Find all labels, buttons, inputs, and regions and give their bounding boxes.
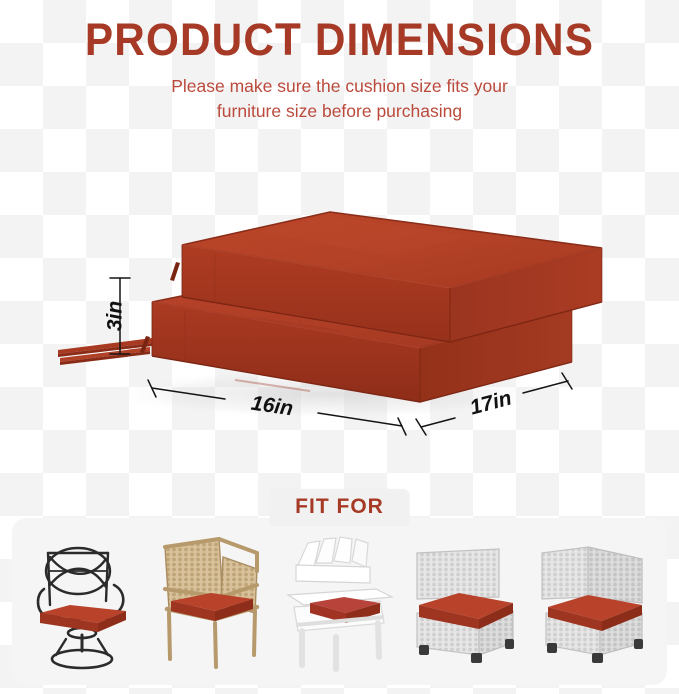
seat-cushion — [40, 605, 126, 632]
fit-item-metal-swivel-chair — [26, 527, 146, 677]
fit-item-adirondack-chair — [280, 527, 400, 677]
product-dimension-illustration: 3in 16in 17in — [0, 150, 679, 480]
fit-item-wicker-corner-section — [534, 527, 654, 677]
page-subtitle: Please make sure the cushion size fits y… — [0, 74, 679, 124]
fit-for-badge: FIT FOR — [269, 489, 410, 526]
subtitle-line-2: furniture size before purchasing — [0, 99, 679, 124]
subtitle-line-1: Please make sure the cushion size fits y… — [0, 74, 679, 99]
dimension-height-label: 3in — [104, 301, 127, 331]
cushion-tie-straps — [58, 338, 152, 365]
header: PRODUCT DIMENSIONS Please make sure the … — [0, 14, 679, 124]
fit-for-label: FIT FOR — [295, 495, 384, 519]
fit-item-wicker-armless-section — [407, 527, 527, 677]
fit-item-wicker-dining-armchair — [153, 527, 273, 677]
page-title: PRODUCT DIMENSIONS — [20, 14, 658, 66]
fit-for-panel — [12, 518, 667, 685]
